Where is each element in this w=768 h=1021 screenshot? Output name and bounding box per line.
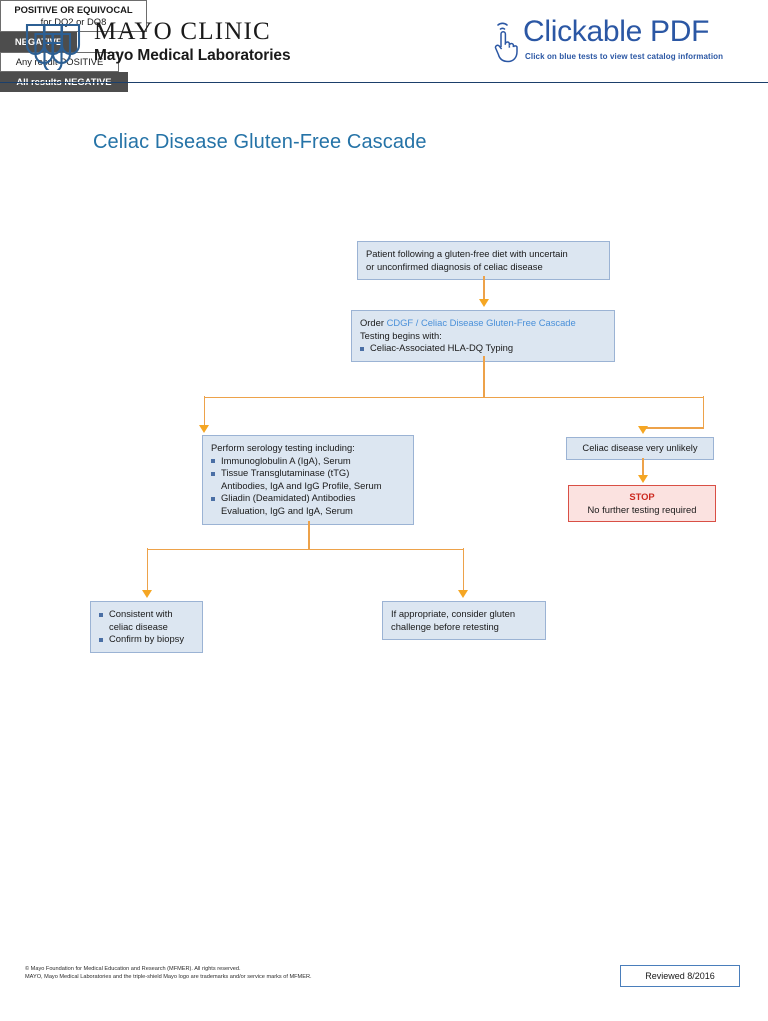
pointing-hand-click-icon — [483, 16, 521, 64]
connector-serology-down — [308, 521, 310, 549]
node-patient-gluten-free-diet: Patient following a gluten-free diet wit… — [357, 241, 610, 280]
header-divider — [0, 82, 768, 83]
testing-begins-label: Testing begins with: — [360, 330, 606, 343]
start-node-line2: or unconfirmed diagnosis of celiac disea… — [366, 261, 601, 274]
arrow-to-serology — [199, 425, 209, 433]
order-test-list: Celiac-Associated HLA-DQ Typing — [360, 342, 606, 355]
footer-copyright: © Mayo Foundation for Medical Education … — [25, 965, 312, 982]
mayo-triple-shield-logo-icon — [22, 20, 84, 70]
mayo-division-name: Mayo Medical Laboratories — [94, 46, 324, 65]
clickable-pdf-banner: Clickable PDF Click on blue tests to vie… — [483, 14, 723, 70]
node-consistent-with-celiac: Consistent with celiac disease Confirm b… — [90, 601, 203, 653]
reviewed-date-box: Reviewed 8/2016 — [620, 965, 740, 987]
copyright-line2: MAYO, Mayo Medical Laboratories and the … — [25, 973, 312, 981]
connector-order-down — [483, 356, 485, 398]
node-gluten-challenge-before-retesting: If appropriate, consider gluten challeng… — [382, 601, 546, 640]
arrow-start-to-order — [479, 299, 489, 307]
clickable-pdf-title: Clickable PDF — [523, 14, 709, 50]
connector-to-consistent — [147, 548, 149, 593]
connector-to-serology — [204, 396, 206, 428]
list-item-gliadin-continuation: Evaluation, IgG and IgA, Serum — [211, 505, 405, 518]
connector-to-unlikely-down — [703, 396, 705, 428]
list-item-ttg-continuation: Antibodies, IgA and IgG Profile, Serum — [211, 480, 405, 493]
arrow-to-challenge — [458, 590, 468, 598]
arrow-to-unlikely — [638, 426, 648, 434]
arrow-to-consistent — [142, 590, 152, 598]
node-stop-no-further-testing: STOP No further testing required — [568, 485, 716, 522]
challenge-line2: challenge before retesting — [391, 621, 537, 634]
serology-test-list: Immunoglobulin A (IgA), Serum Tissue Tra… — [211, 455, 405, 518]
stop-word: STOP — [577, 491, 707, 504]
list-item-hla-dq-typing: Celiac-Associated HLA-DQ Typing — [360, 342, 606, 355]
order-prefix: Order — [360, 317, 384, 328]
node-order-cdgf-cascade: Order CDGF / Celiac Disease Gluten-Free … — [351, 310, 615, 362]
list-item-consistent-continuation: celiac disease — [99, 621, 194, 634]
challenge-line1: If appropriate, consider gluten — [391, 608, 537, 621]
list-item-tissue-transglutaminase: Tissue Transglutaminase (tTG) — [211, 467, 405, 480]
page-title: Celiac Disease Gluten-Free Cascade — [93, 131, 427, 154]
positive-equivocal-line1: POSITIVE OR EQUIVOCAL — [7, 4, 140, 16]
clickable-pdf-subtitle: Click on blue tests to view test catalog… — [525, 52, 723, 61]
mayo-clinic-name: MAYO CLINIC — [94, 18, 324, 46]
connector-branch-horizontal — [204, 397, 704, 399]
arrow-unlikely-to-stop — [638, 475, 648, 483]
list-item-gliadin-antibodies: Gliadin (Deamidated) Antibodies — [211, 492, 405, 505]
connector-result-horizontal — [147, 549, 464, 551]
start-node-line1: Patient following a gluten-free diet wit… — [366, 248, 601, 261]
copyright-line1: © Mayo Foundation for Medical Education … — [25, 965, 312, 973]
connector-to-unlikely-horizontal — [642, 427, 704, 429]
list-item-consistent-with: Consistent with — [99, 608, 194, 621]
mayo-clinic-logo: MAYO CLINIC Mayo Medical Laboratories — [22, 18, 322, 70]
order-line: Order CDGF / Celiac Disease Gluten-Free … — [360, 317, 606, 330]
link-cdgf-cascade[interactable]: CDGF / Celiac Disease Gluten-Free Cascad… — [387, 317, 576, 328]
list-item-immunoglobulin-a: Immunoglobulin A (IgA), Serum — [211, 455, 405, 468]
list-item-confirm-by-biopsy: Confirm by biopsy — [99, 633, 194, 646]
stop-detail: No further testing required — [588, 504, 697, 515]
node-celiac-very-unlikely: Celiac disease very unlikely — [566, 437, 714, 460]
consistent-list: Consistent with celiac disease Confirm b… — [99, 608, 194, 646]
connector-to-challenge — [463, 548, 465, 593]
serology-heading: Perform serology testing including: — [211, 442, 405, 455]
mayo-wordmark: MAYO CLINIC Mayo Medical Laboratories — [94, 18, 324, 65]
node-perform-serology-testing: Perform serology testing including: Immu… — [202, 435, 414, 525]
